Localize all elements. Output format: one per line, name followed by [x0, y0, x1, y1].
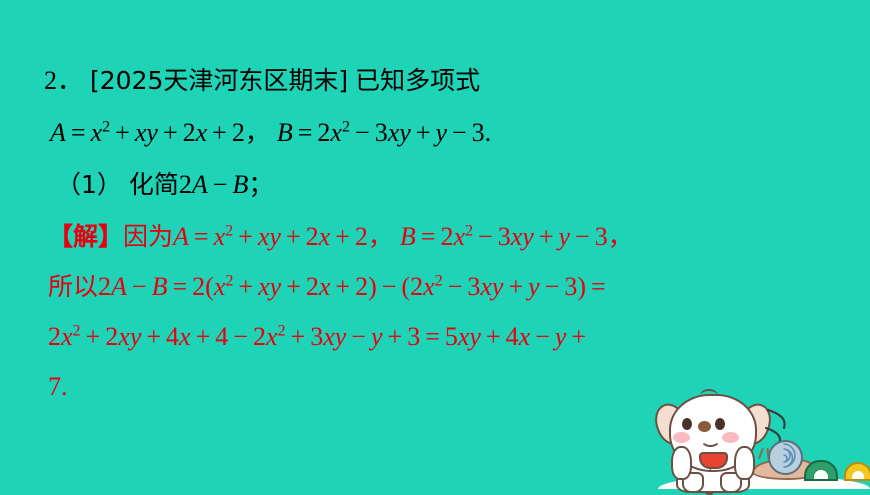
snail-antenna-left-icon — [758, 448, 764, 459]
sub-question-index: （1） — [56, 170, 122, 199]
sub-question-1-line: （1）化简2A−B； — [56, 160, 273, 210]
dog-arm-right-icon — [734, 446, 755, 480]
solution-therefore-word: 所以 — [48, 272, 98, 301]
solution-line-3: 2x2+2xy+4x+4−2x2+3xy−y+3=5xy+4x−y+ — [48, 312, 591, 362]
dog-smile-icon — [700, 430, 721, 447]
green-arch-icon — [804, 460, 838, 481]
sub-question-terminator: ； — [248, 170, 273, 199]
solution-line-4: 7. — [48, 362, 68, 412]
solution-line-2: 所以2A−B=2(x2+xy+2x+2)−(2x2−3xy+y−3)= — [48, 262, 611, 312]
given-comma: ， — [245, 118, 270, 147]
solution-step2: 2x2+2xy+4x+4−2x2+3xy−y+3=5xy+4x−y+ — [48, 322, 591, 351]
solution-step3: 7. — [48, 372, 68, 401]
dog-arm-left-icon — [671, 446, 692, 480]
snail-shell-spiral-icon — [770, 442, 797, 469]
dog-eye-right-icon — [715, 418, 725, 430]
solution-step1: 2A−B=2(x2+xy+2x+2)−(2x2−3xy+y−3)= — [98, 272, 611, 301]
solution-line-1: 【解】因为A=x2+xy+2x+2，B=2x2−3xy+y−3， — [48, 212, 633, 262]
expression-A: A=x2+xy+2x+2 — [50, 118, 245, 147]
solution-because-B: B=2x2−3xy+y−3 — [400, 222, 608, 251]
dog-open-mouth-icon — [699, 452, 728, 469]
given-expressions-line: A=x2+xy+2x+2，B=2x2−3xy+y−3. — [50, 108, 491, 158]
sub-question-text: 化简 — [129, 170, 179, 199]
dog-cheek-right-icon — [722, 432, 739, 443]
problem-number: 2． — [44, 66, 83, 95]
mascot-illustration: ☓ — [648, 388, 870, 489]
slide-canvas: 2．[2025天津河东区期末]已知多项式 A=x2+xy+2x+2，B=2x2−… — [0, 0, 870, 489]
solution-because-A: A=x2+xy+2x+2 — [173, 222, 368, 251]
expression-B: B=2x2−3xy+y−3. — [277, 118, 491, 147]
dog-eye-left-icon — [682, 418, 692, 430]
solution-tag: 【解】 — [48, 222, 123, 251]
dog-cheek-left-icon — [673, 432, 690, 443]
problem-source-tag: [2025天津河东区期末] — [90, 66, 348, 95]
yellow-arch-icon — [844, 462, 870, 481]
problem-prompt: 已知多项式 — [355, 66, 480, 95]
problem-header-line: 2．[2025天津河东区期末]已知多项式 — [44, 56, 480, 106]
dog-character-icon: ☓ — [656, 390, 766, 489]
dog-head-tuft-icon — [700, 389, 718, 403]
sub-question-expression: 2A−B — [179, 170, 248, 199]
snail-shell-icon — [768, 440, 803, 475]
solution-because-word: 因为 — [123, 222, 173, 251]
